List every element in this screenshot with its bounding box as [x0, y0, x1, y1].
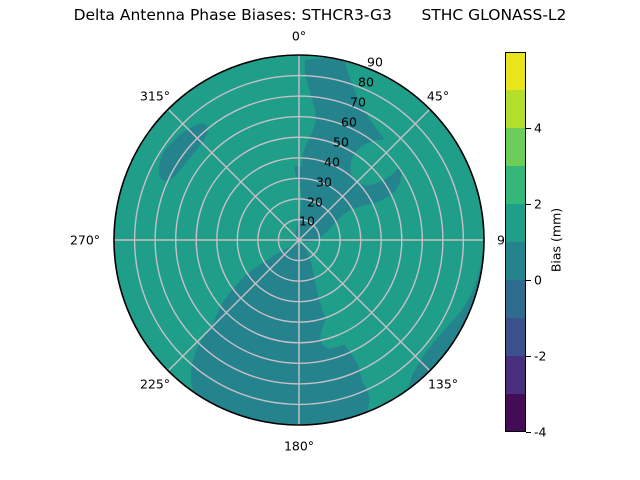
matplotlib-figure: Delta Antenna Phase Biases: STHCR3-G3 ST…: [0, 0, 640, 480]
radial-label-50: 50: [333, 135, 349, 150]
colorbar-band-5: [505, 242, 526, 280]
colorbar-band-3: [505, 318, 526, 356]
theta-label-45: 45°: [427, 89, 449, 104]
colorbar-tick-0: [526, 280, 531, 281]
radial-label-80: 80: [358, 75, 374, 90]
colorbar-ticklabel-0: 0: [534, 273, 542, 288]
colorbar-band-4: [505, 280, 526, 318]
colorbar-band-1: [505, 394, 526, 432]
radial-label-40: 40: [324, 155, 340, 170]
theta-label-0: 0°: [292, 29, 306, 44]
colorbar-ticklabel-4: 4: [534, 121, 542, 136]
radial-label-30: 30: [316, 175, 332, 190]
colorbar-band-8: [505, 128, 526, 166]
colorbar-ticklabel-m4: -4: [534, 425, 546, 440]
polar-axes: 0° 45° 90 135° 180° 225° 270° 315° 10 20…: [113, 54, 485, 426]
theta-label-270: 270°: [70, 233, 100, 248]
colorbar-tick-m4: [526, 432, 531, 433]
colorbar-tick-4: [526, 128, 531, 129]
colorbar-ticklabel-m2: -2: [534, 349, 546, 364]
theta-label-315: 315°: [140, 89, 170, 104]
radial-label-60: 60: [341, 115, 357, 130]
theta-label-180: 180°: [284, 439, 314, 454]
colorbar-tick-2: [526, 204, 531, 205]
angular-gridlines: [114, 55, 484, 425]
theta-label-225: 225°: [140, 377, 170, 392]
colorbar-tick-m2: [526, 356, 531, 357]
radial-label-20: 20: [307, 195, 323, 210]
colorbar-band-10: [505, 52, 526, 90]
colorbar-band-2: [505, 356, 526, 394]
polar-plot-canvas: [113, 54, 485, 426]
chart-title: Delta Antenna Phase Biases: STHCR3-G3 ST…: [0, 6, 640, 24]
radial-label-10: 10: [299, 214, 315, 229]
colorbar-ticklabel-2: 2: [534, 197, 542, 212]
theta-label-135: 135°: [428, 377, 458, 392]
radial-label-70: 70: [350, 95, 366, 110]
colorbar[interactable]: [505, 52, 526, 432]
colorbar-band-6: [505, 204, 526, 242]
radial-label-90: 90: [367, 55, 383, 70]
colorbar-band-7: [505, 166, 526, 204]
colorbar-band-9: [505, 90, 526, 128]
colorbar-axis-label: Bias (mm): [549, 208, 564, 272]
